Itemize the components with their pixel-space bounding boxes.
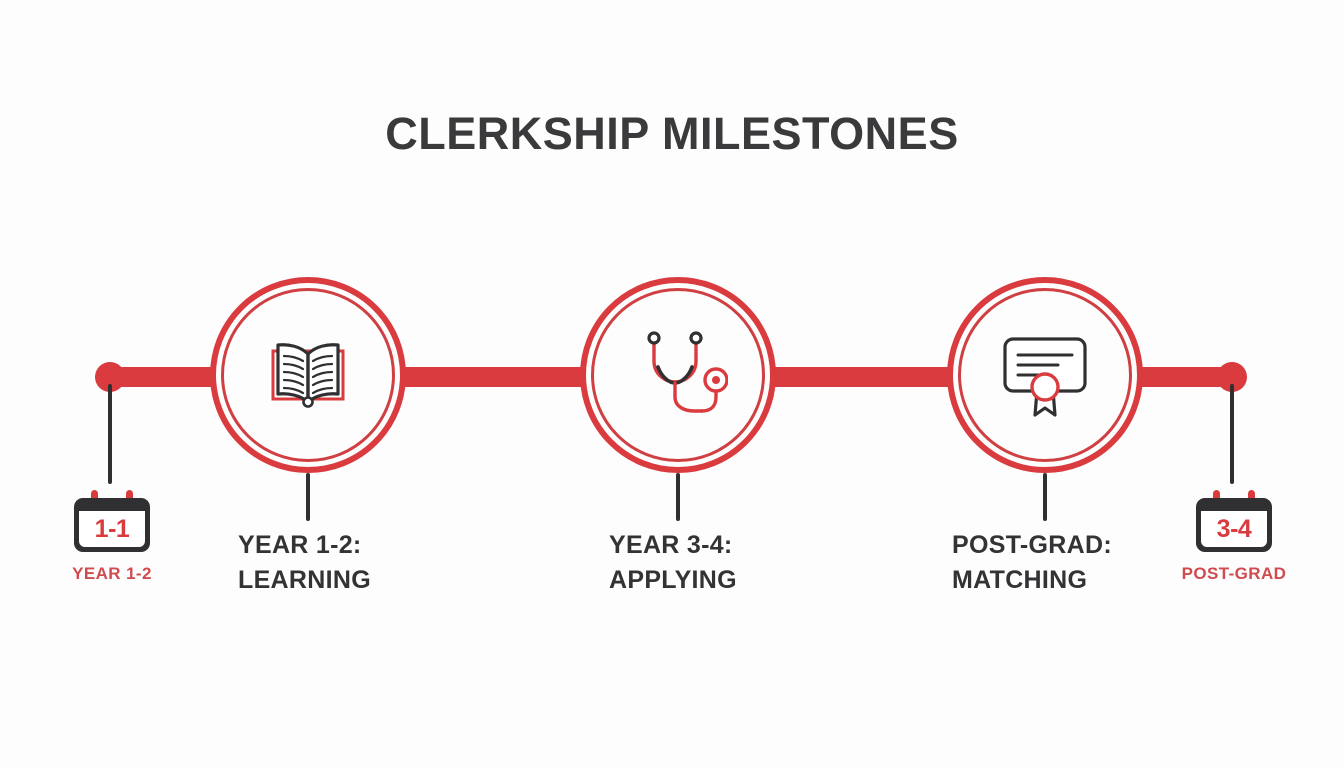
milestone-label-matching: POST-GRAD: MATCHING [952,528,1112,598]
connector-line-right [1230,384,1234,484]
milestone-label-line1: YEAR 1-2: [238,528,371,563]
calendar-block-left: 1-1 YEAR 1-2 [32,490,192,584]
calendar-value: 3-4 [1201,511,1267,547]
calendar-icon: 1-1 [74,490,150,552]
calendar-block-right: 3-4 POST-GRAD [1154,490,1314,584]
infographic-canvas: CLERKSHIP MILESTONES [0,0,1344,768]
connector-line-left [108,384,112,484]
milestone-label-learning: YEAR 1-2: LEARNING [238,528,371,598]
milestone-label-line2: LEARNING [238,563,371,598]
milestone-matching[interactable] [947,277,1143,473]
stethoscope-icon [580,277,776,473]
milestone-label-line2: MATCHING [952,563,1112,598]
milestone-stem-matching [1043,473,1047,521]
milestone-applying[interactable] [580,277,776,473]
milestone-stem-applying [676,473,680,521]
milestone-label-applying: YEAR 3-4: APPLYING [609,528,737,598]
certificate-icon [947,277,1143,473]
milestone-learning[interactable] [210,277,406,473]
open-book-icon [210,277,406,473]
calendar-value: 1-1 [79,511,145,547]
milestone-label-line1: POST-GRAD: [952,528,1112,563]
calendar-icon: 3-4 [1196,490,1272,552]
milestone-label-line1: YEAR 3-4: [609,528,737,563]
milestone-label-line2: APPLYING [609,563,737,598]
milestone-stem-learning [306,473,310,521]
calendar-caption-right: POST-GRAD [1154,564,1314,584]
page-title: CLERKSHIP MILESTONES [0,108,1344,160]
calendar-caption-left: YEAR 1-2 [32,564,192,584]
